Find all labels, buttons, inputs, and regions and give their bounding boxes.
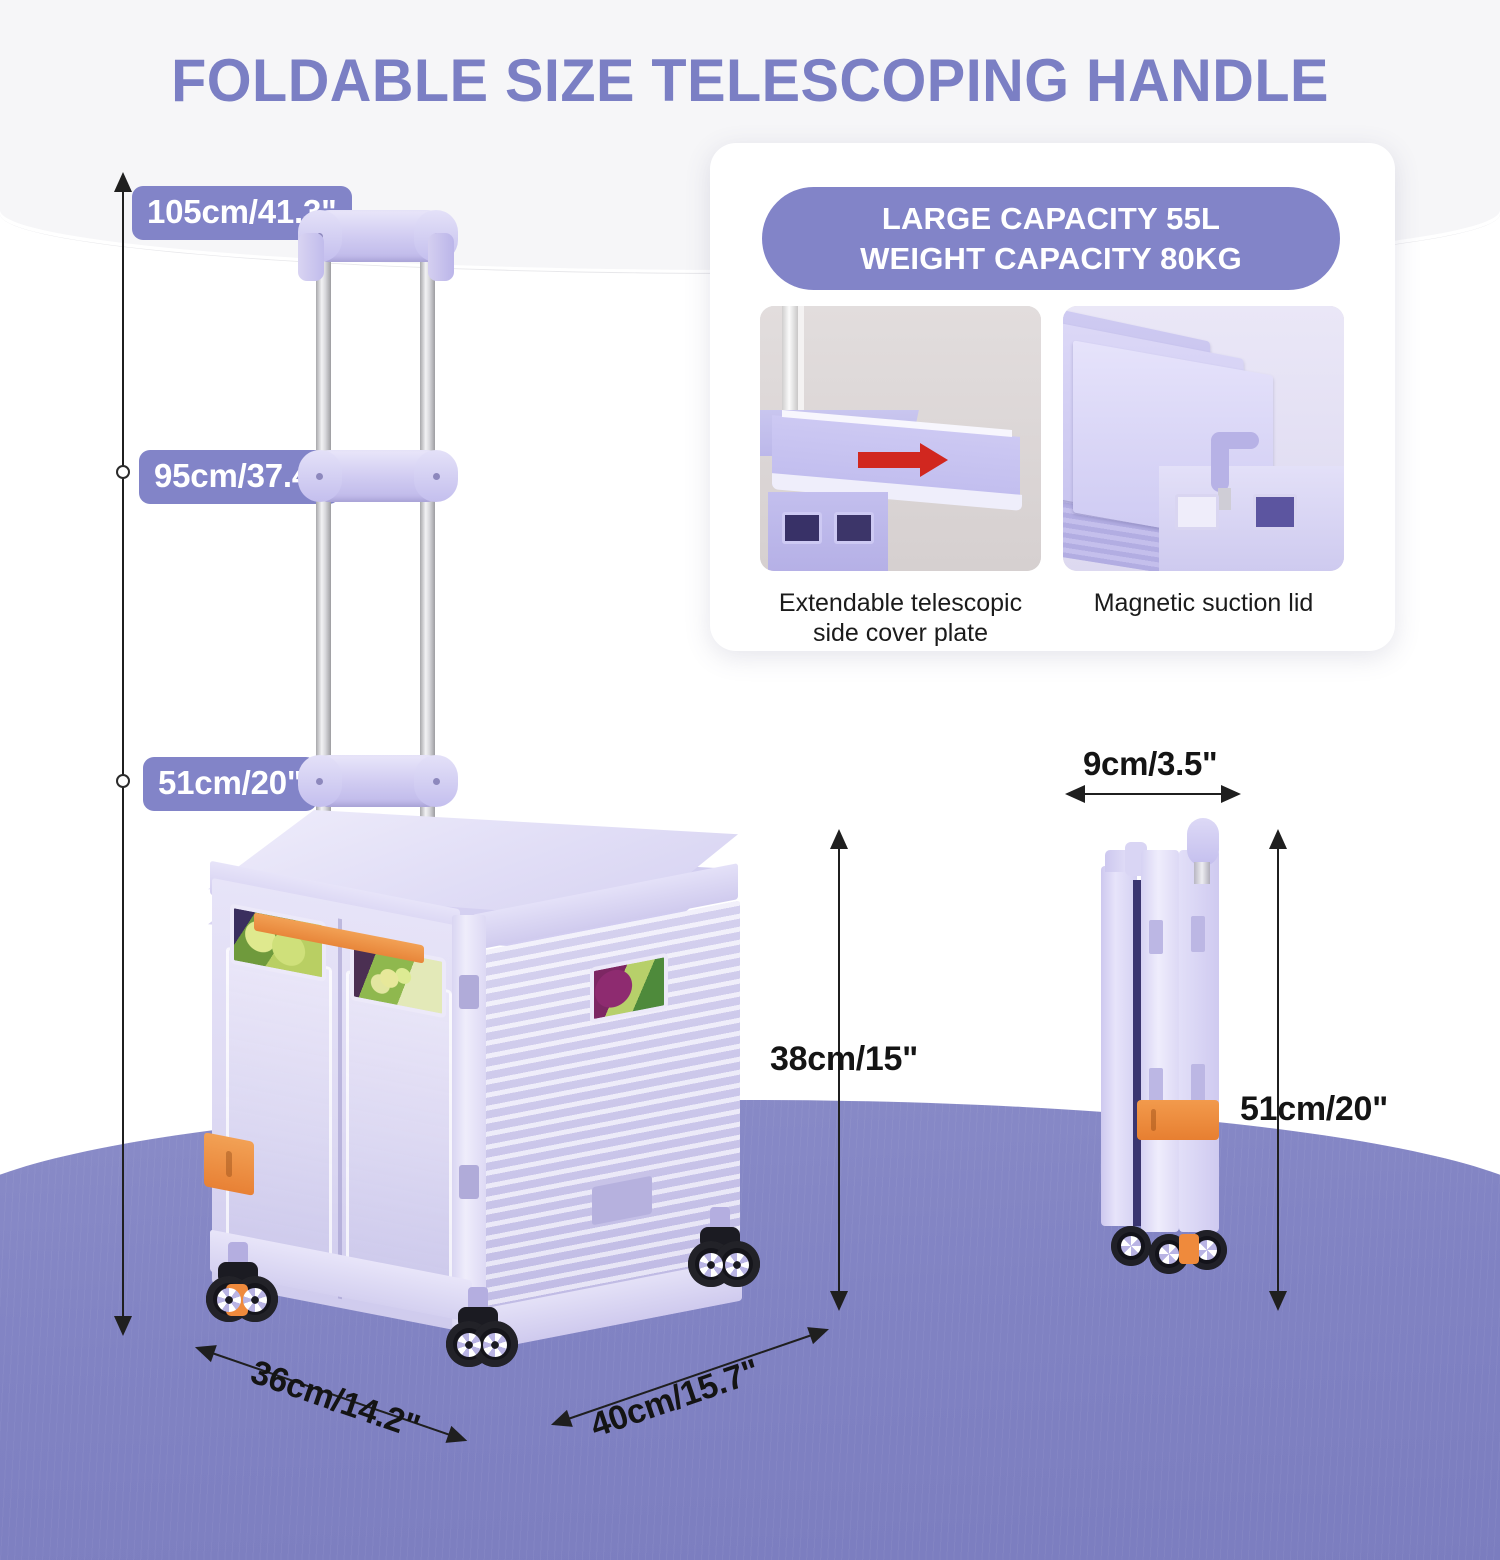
folded-slot — [1149, 920, 1163, 954]
handle-grip-low — [304, 755, 452, 807]
folded-back-panel — [1101, 866, 1137, 1226]
folded-front-panel — [1179, 850, 1219, 1232]
folded-handle-stem — [1194, 862, 1210, 884]
grip-screw-left — [316, 473, 323, 480]
grip-leg-left — [298, 233, 324, 281]
folded-height-arrow — [1277, 845, 1279, 1295]
caster-hub — [243, 1288, 267, 1312]
front-door-seam — [338, 918, 342, 1299]
folded-cart-illustration — [1095, 838, 1265, 1338]
folded-orange-strap — [1137, 1100, 1219, 1140]
caster-hub — [1121, 1236, 1141, 1256]
handle-grip-mid — [304, 450, 452, 502]
folded-height-label: 51cm/20" — [1240, 1090, 1388, 1129]
capacity-weight-label: WEIGHT CAPACITY 80KG — [860, 239, 1242, 279]
cart-window-a — [1175, 494, 1219, 530]
folded-shadow-gap — [1133, 880, 1141, 1226]
feature-caption-1: Extendable telescopic side cover plate — [760, 588, 1041, 648]
pillar-clip — [459, 975, 479, 1009]
red-arrow-icon — [858, 452, 922, 468]
orange-latch-side — [204, 1132, 254, 1196]
extendable-plate-photo — [760, 306, 1041, 571]
produce-cabbage — [594, 957, 664, 1019]
caster-hub — [457, 1333, 481, 1357]
height-tick-51 — [116, 774, 130, 788]
folded-middle-panel — [1141, 850, 1179, 1232]
capacity-badge: LARGE CAPACITY 55L WEIGHT CAPACITY 80KG — [762, 187, 1340, 290]
folded-slot — [1191, 1064, 1205, 1102]
folded-thickness-label: 9cm/3.5" — [1083, 745, 1217, 783]
folded-caster-brake — [1179, 1234, 1199, 1264]
feature-photo-row: Extendable telescopic side cover plate — [760, 306, 1345, 648]
height-measure-line — [122, 188, 124, 1320]
grip-screw-left — [316, 778, 323, 785]
caster-hub — [699, 1253, 723, 1277]
caster-hub — [725, 1253, 749, 1277]
main-cart-illustration — [180, 185, 800, 1365]
grip-screw-right — [433, 778, 440, 785]
front-door-left — [226, 947, 332, 1268]
magnetic-lid-photo — [1063, 306, 1344, 571]
handle-peg — [1218, 488, 1231, 510]
caster-hub — [217, 1288, 241, 1312]
cart-window-b — [1253, 494, 1297, 530]
grip-screw-right — [433, 473, 440, 480]
infographic-stage: FOLDABLE SIZE TELESCOPING HANDLE LARGE C… — [0, 0, 1500, 1500]
front-door-right — [346, 970, 452, 1291]
capacity-volume-label: LARGE CAPACITY 55L — [882, 199, 1220, 239]
pillar-clip — [459, 1165, 479, 1199]
feature-caption-2: Magnetic suction lid — [1063, 588, 1344, 618]
height-tick-95 — [116, 465, 130, 479]
feature-photo-item-2: Magnetic suction lid — [1063, 306, 1344, 648]
feature-card: LARGE CAPACITY 55L WEIGHT CAPACITY 80KG — [710, 143, 1395, 651]
grip-leg-right — [428, 233, 454, 281]
caster-hub — [1197, 1240, 1217, 1260]
folded-thickness-arrow — [1083, 793, 1223, 795]
folded-slot — [1191, 916, 1205, 952]
caster-hub — [1159, 1244, 1179, 1264]
cart-window-right — [834, 512, 874, 544]
cart-corner-pillar — [452, 915, 486, 1335]
caster-hub — [483, 1333, 507, 1357]
handle-arm — [1211, 434, 1229, 492]
page-title: FOLDABLE SIZE TELESCOPING HANDLE — [30, 46, 1470, 115]
folded-handle-cap — [1187, 818, 1219, 866]
cart-height-label: 38cm/15" — [770, 1040, 918, 1079]
feature-photo-item-1: Extendable telescopic side cover plate — [760, 306, 1041, 648]
